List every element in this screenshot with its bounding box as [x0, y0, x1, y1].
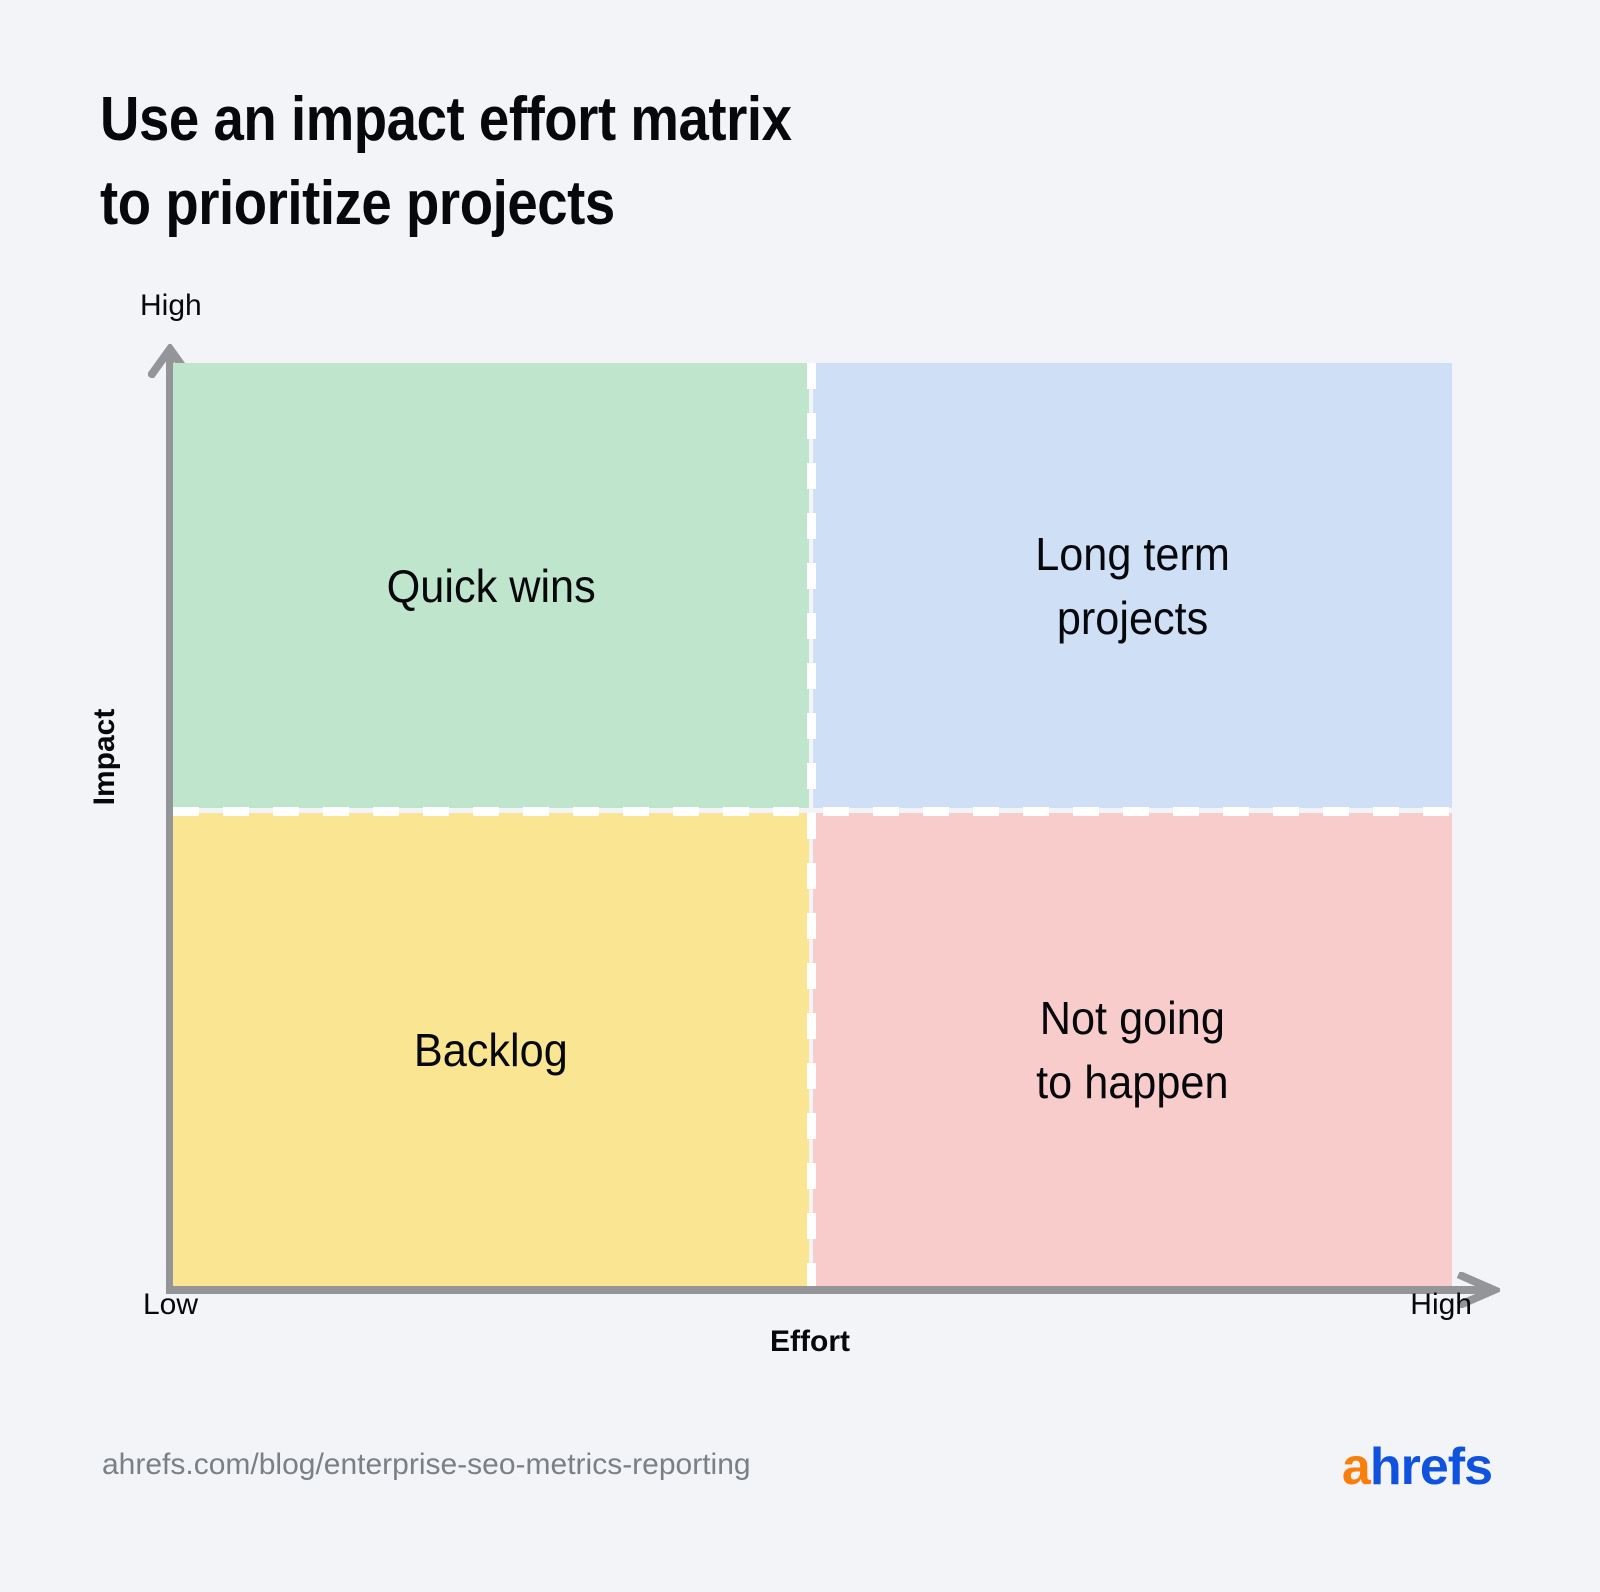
- quadrant-backlog-label: Backlog: [414, 1018, 568, 1082]
- quadrant-quick-wins-label: Quick wins: [386, 554, 595, 618]
- ahrefs-logo-hrefs: hrefs: [1370, 1438, 1492, 1496]
- quadrant-long-term-projects-label: Long term projects: [1035, 522, 1230, 650]
- y-axis-title: Impact: [88, 647, 122, 867]
- quadrant-backlog[interactable]: Backlog: [173, 813, 809, 1286]
- quadrant-divider-vertical: [807, 363, 816, 1286]
- quadrant-grid: Quick wins Long term projects Backlog No…: [173, 363, 1452, 1286]
- quadrant-divider-horizontal: [173, 807, 1452, 816]
- x-axis-line: [166, 1286, 1488, 1294]
- quadrant-quick-wins[interactable]: Quick wins: [173, 363, 809, 808]
- quadrant-not-going-to-happen[interactable]: Not going to happen: [813, 813, 1452, 1286]
- x-axis-high-label: High: [1300, 1288, 1472, 1322]
- x-axis-title: Effort: [600, 1325, 1020, 1359]
- x-axis-low-label: Low: [143, 1288, 198, 1322]
- ahrefs-logo-a: a: [1342, 1438, 1370, 1496]
- y-axis-high-label: High: [140, 288, 202, 324]
- quadrant-not-going-to-happen-label: Not going to happen: [1036, 986, 1228, 1114]
- ahrefs-logo[interactable]: ahrefs: [1342, 1437, 1492, 1497]
- source-url[interactable]: ahrefs.com/blog/enterprise-seo-metrics-r…: [102, 1448, 751, 1482]
- impact-effort-matrix-chart: High Quick wins Long term projects Backl…: [0, 0, 1600, 1420]
- quadrant-long-term-projects[interactable]: Long term projects: [813, 363, 1452, 808]
